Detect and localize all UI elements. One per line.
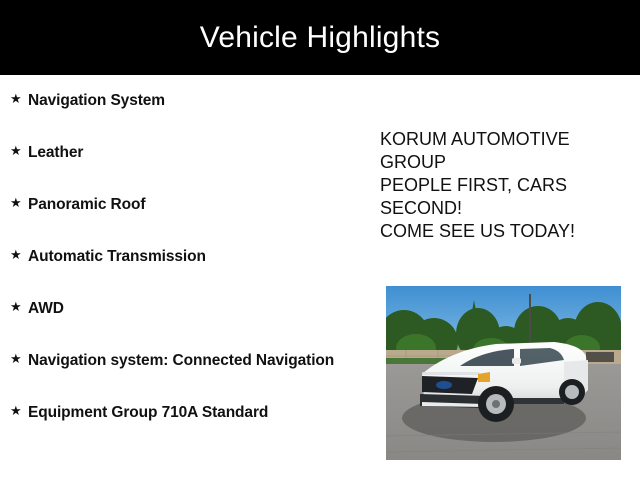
- star-icon: ★: [10, 350, 22, 369]
- promo-line: PEOPLE FIRST, CARS SECOND!: [380, 174, 630, 220]
- star-icon: ★: [10, 402, 22, 421]
- promo-line: COME SEE US TODAY!: [380, 220, 630, 243]
- vehicle-photo-image: [386, 286, 621, 460]
- vehicle-highlights-list: ★ Navigation System ★ Leather ★ Panorami…: [0, 90, 350, 424]
- highlight-label: Panoramic Roof: [28, 194, 350, 216]
- vehicle-photo: [386, 286, 621, 460]
- page-header: Vehicle Highlights: [0, 0, 640, 75]
- list-item: ★ Leather: [0, 142, 350, 164]
- star-icon: ★: [10, 298, 22, 317]
- content-area: ★ Navigation System ★ Leather ★ Panorami…: [0, 75, 640, 480]
- highlight-label: Navigation system: Connected Navigation: [28, 350, 350, 372]
- page-title: Vehicle Highlights: [200, 23, 440, 53]
- highlight-label: Navigation System: [28, 90, 350, 112]
- list-item: ★ Automatic Transmission: [0, 246, 350, 268]
- promo-line: KORUM AUTOMOTIVE GROUP: [380, 128, 630, 174]
- highlight-label: Equipment Group 710A Standard: [28, 402, 350, 424]
- list-item: ★ AWD: [0, 298, 350, 320]
- list-item: ★ Navigation system: Connected Navigatio…: [0, 350, 350, 372]
- list-item: ★ Panoramic Roof: [0, 194, 350, 216]
- star-icon: ★: [10, 246, 22, 265]
- highlight-label: Leather: [28, 142, 350, 164]
- highlight-label: Automatic Transmission: [28, 246, 350, 268]
- list-item: ★ Equipment Group 710A Standard: [0, 402, 350, 424]
- list-item: ★ Navigation System: [0, 90, 350, 112]
- highlight-label: AWD: [28, 298, 350, 320]
- star-icon: ★: [10, 142, 22, 161]
- star-icon: ★: [10, 90, 22, 109]
- dealer-promo-text: KORUM AUTOMOTIVE GROUP PEOPLE FIRST, CAR…: [380, 128, 630, 243]
- star-icon: ★: [10, 194, 22, 213]
